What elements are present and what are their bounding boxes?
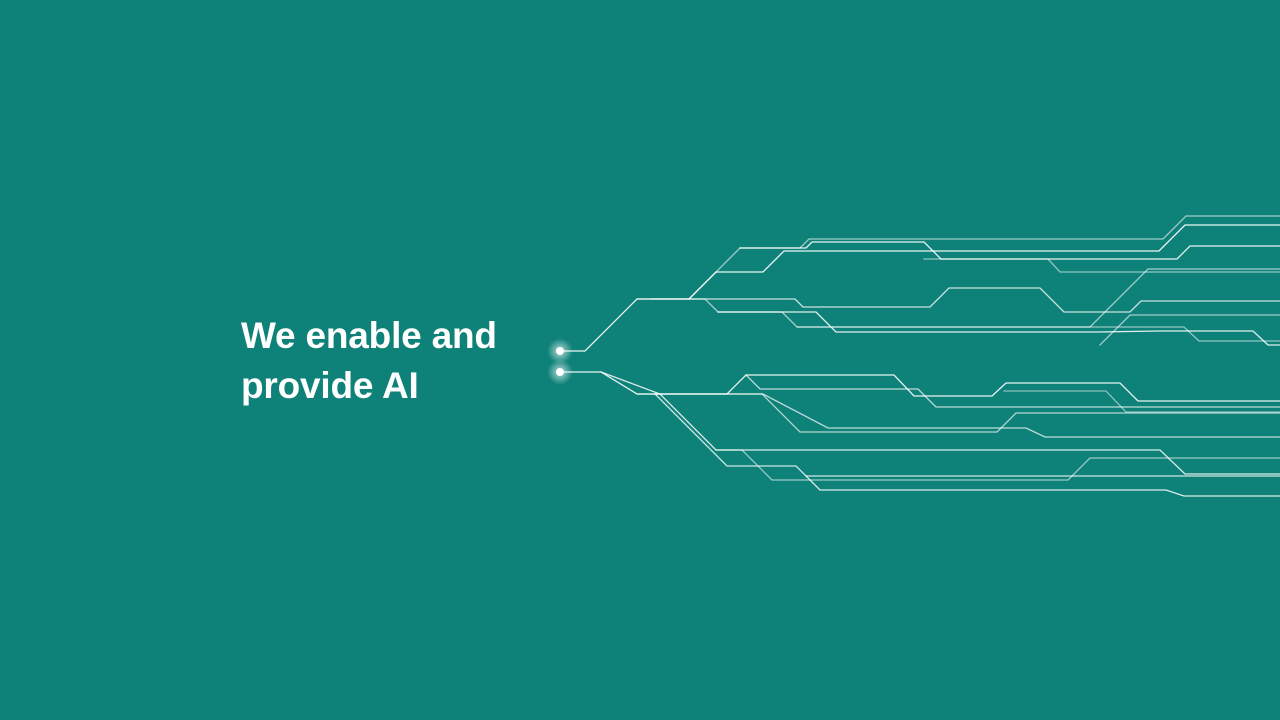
origin-node-upper [556, 347, 564, 355]
trace-16 [924, 259, 1280, 272]
trace-09 [655, 394, 1280, 432]
trace-14 [716, 450, 1280, 480]
trace-layer [560, 216, 1280, 496]
circuit-trace-network-graphic [0, 0, 1280, 720]
origin-node-lower-glow [547, 359, 573, 385]
trace-18 [1100, 315, 1280, 345]
slide-canvas: We enable and provide AI [0, 0, 1280, 720]
trace-17 [1004, 391, 1280, 412]
trace-06 [718, 312, 1280, 345]
trace-15 [806, 476, 1280, 496]
origin-node-layer [547, 338, 573, 385]
origin-node-upper-glow [547, 338, 573, 364]
trace-05 [637, 269, 1280, 327]
trace-02 [689, 216, 1280, 299]
trace-04 [651, 288, 1280, 312]
page-title: We enable and provide AI [241, 311, 541, 411]
origin-node-lower [556, 368, 564, 376]
trace-08 [560, 372, 1280, 401]
trace-03 [740, 242, 1280, 259]
trace-10 [637, 394, 1280, 437]
trace-12 [655, 394, 1280, 476]
trace-01 [560, 225, 1280, 351]
trace-07 [797, 327, 1280, 341]
trace-11 [601, 372, 1280, 474]
trace-13 [746, 375, 1280, 407]
